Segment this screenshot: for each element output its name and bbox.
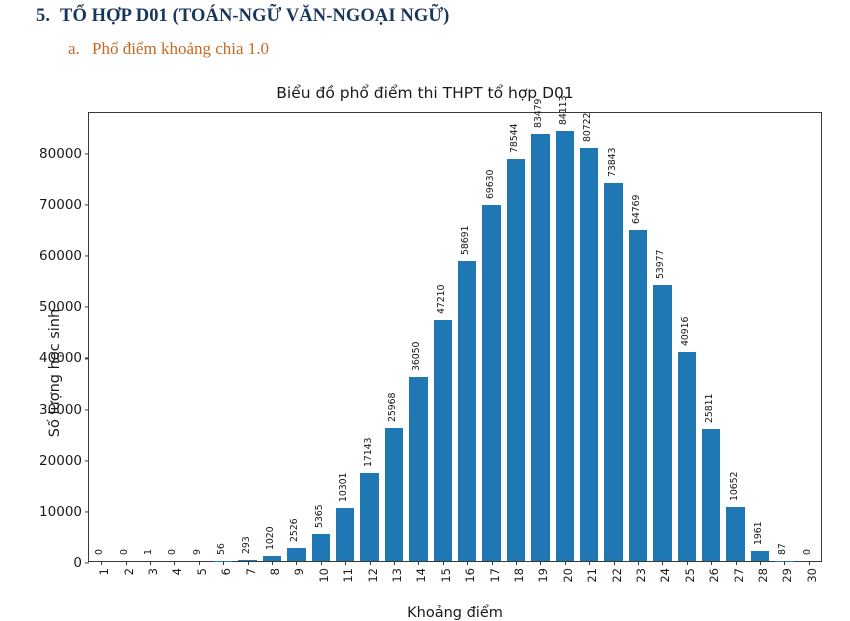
x-tick-mark — [638, 561, 639, 565]
y-tick-label: 40000 — [39, 350, 89, 366]
chart-title: Biểu đồ phổ điểm thi THPT tổ hợp D01 — [0, 84, 850, 102]
y-tick-label: 50000 — [39, 299, 89, 315]
x-tick-label: 14 — [414, 568, 428, 596]
section-heading: 5.TỔ HỢP D01 (TOÁN-NGỮ VĂN-NGOẠI NGỮ) — [36, 6, 449, 27]
chart-figure: Biểu đồ phổ điểm thi THPT tổ hợp D01 Số … — [0, 78, 850, 614]
x-tick-label: 10 — [317, 568, 331, 596]
x-tick-mark — [443, 561, 444, 565]
x-tick-mark — [272, 561, 273, 565]
x-tick-label: 21 — [585, 568, 599, 596]
y-tick-label: 70000 — [39, 197, 89, 213]
x-tick-label: 6 — [219, 568, 233, 596]
y-tick-label: 10000 — [39, 504, 89, 520]
x-tick-mark — [418, 561, 419, 565]
section-heading-text: TỔ HỢP D01 (TOÁN-NGỮ VĂN-NGOẠI NGỮ) — [60, 6, 449, 26]
x-tick-mark — [492, 561, 493, 565]
x-tick-label: 28 — [756, 568, 770, 596]
x-tick-mark — [565, 561, 566, 565]
y-tick-label: 0 — [73, 555, 89, 571]
x-tick-label: 27 — [732, 568, 746, 596]
x-tick-mark — [467, 561, 468, 565]
x-tick-mark — [784, 561, 785, 565]
section-subheading-text: Phổ điểm khoảng chia 1.0 — [92, 39, 269, 58]
x-tick-label: 15 — [439, 568, 453, 596]
x-tick-label: 19 — [536, 568, 550, 596]
x-tick-mark — [345, 561, 346, 565]
x-tick-mark — [540, 561, 541, 565]
x-tick-mark — [516, 561, 517, 565]
x-tick-mark — [809, 561, 810, 565]
x-tick-label: 22 — [610, 568, 624, 596]
x-tick-mark — [394, 561, 395, 565]
x-tick-mark — [614, 561, 615, 565]
plot-area: Số lượng học sinh 0100002000030000400005… — [88, 112, 822, 562]
x-tick-label: 4 — [170, 568, 184, 596]
x-tick-label: 7 — [244, 568, 258, 596]
y-tick-label: 60000 — [39, 248, 89, 264]
x-tick-mark — [248, 561, 249, 565]
y-axis-label: Số lượng học sinh — [47, 263, 63, 483]
x-tick-label: 2 — [122, 568, 136, 596]
x-axis: 1234567891011121314151617181920212223242… — [89, 113, 821, 561]
section-heading-number: 5. — [36, 6, 60, 27]
x-tick-mark — [760, 561, 761, 565]
x-tick-mark — [174, 561, 175, 565]
x-tick-mark — [711, 561, 712, 565]
section-subheading: a.Phổ điểm khoảng chia 1.0 — [68, 39, 269, 59]
x-tick-label: 1 — [97, 568, 111, 596]
x-tick-label: 24 — [658, 568, 672, 596]
y-tick-label: 30000 — [39, 402, 89, 418]
x-tick-mark — [589, 561, 590, 565]
x-tick-label: 5 — [195, 568, 209, 596]
y-tick-label: 20000 — [39, 453, 89, 469]
x-tick-label: 8 — [268, 568, 282, 596]
x-tick-mark — [223, 561, 224, 565]
x-tick-label: 23 — [634, 568, 648, 596]
y-tick-label: 80000 — [39, 146, 89, 162]
x-tick-label: 30 — [805, 568, 819, 596]
x-tick-label: 12 — [366, 568, 380, 596]
x-tick-label: 18 — [512, 568, 526, 596]
x-tick-mark — [662, 561, 663, 565]
x-tick-label: 3 — [146, 568, 160, 596]
x-tick-label: 17 — [488, 568, 502, 596]
x-tick-mark — [101, 561, 102, 565]
x-axis-label: Khoảng điểm — [89, 605, 821, 621]
x-tick-mark — [126, 561, 127, 565]
x-tick-mark — [199, 561, 200, 565]
x-tick-mark — [687, 561, 688, 565]
x-tick-label: 11 — [341, 568, 355, 596]
x-tick-label: 16 — [463, 568, 477, 596]
x-tick-label: 25 — [683, 568, 697, 596]
x-tick-mark — [736, 561, 737, 565]
x-tick-mark — [321, 561, 322, 565]
x-tick-label: 13 — [390, 568, 404, 596]
x-tick-label: 9 — [292, 568, 306, 596]
x-tick-mark — [296, 561, 297, 565]
x-tick-label: 20 — [561, 568, 575, 596]
x-tick-mark — [150, 561, 151, 565]
section-subheading-number: a. — [68, 39, 92, 59]
x-tick-label: 26 — [707, 568, 721, 596]
x-tick-label: 29 — [780, 568, 794, 596]
x-tick-mark — [370, 561, 371, 565]
